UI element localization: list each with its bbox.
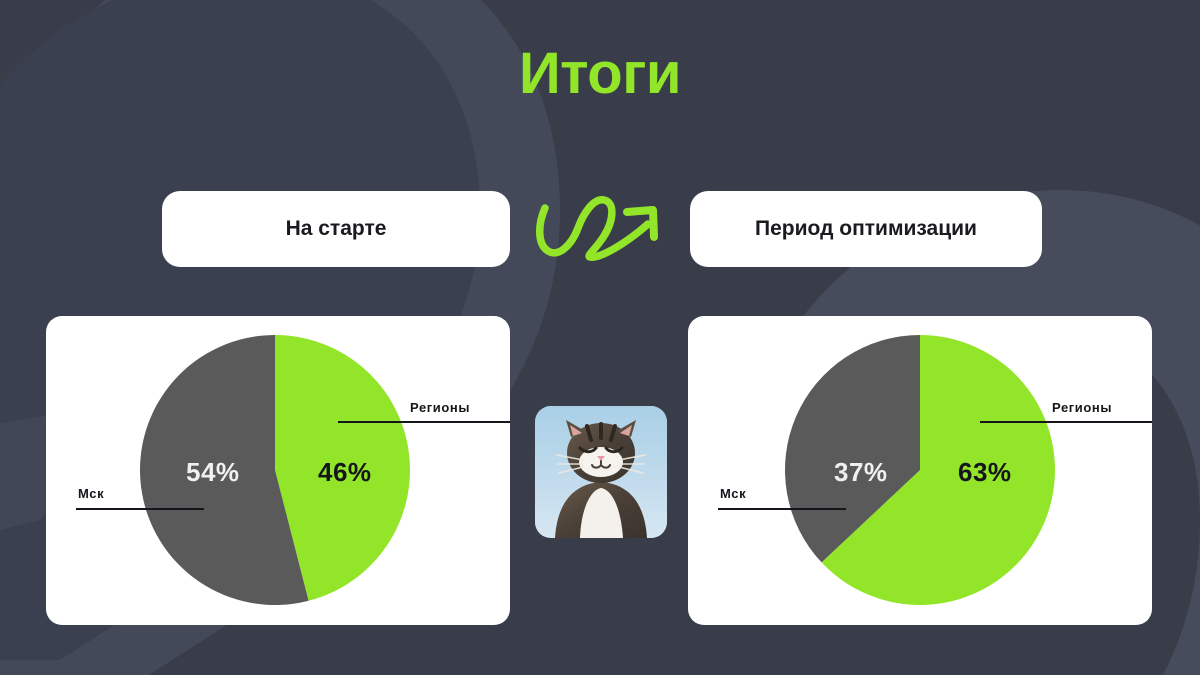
pie-value-msk: 37% <box>834 457 888 488</box>
page-title: Итоги <box>0 40 1200 107</box>
pie-chart-after: Регионы Мск 37% 63% <box>688 316 1152 625</box>
pie-value-regions: 46% <box>318 457 372 488</box>
pie-chart-before: Регионы Мск 54% 46% <box>46 316 510 625</box>
stage-pill-before-label: На старте <box>286 217 387 241</box>
pie-chart-after-svg <box>688 316 1152 625</box>
pie-label-regions: Регионы <box>1052 400 1112 415</box>
cat-photo <box>535 406 667 538</box>
pie-value-regions: 63% <box>958 457 1012 488</box>
chart-card-after: Регионы Мск 37% 63% <box>688 316 1152 625</box>
leader-line-regions <box>980 421 1152 423</box>
pie-label-regions: Регионы <box>410 400 470 415</box>
pie-label-msk: Мск <box>720 486 746 501</box>
curly-arrow-icon <box>528 186 688 272</box>
pie-chart-before-svg <box>46 316 510 625</box>
leader-line-msk <box>76 508 204 510</box>
pie-value-msk: 54% <box>186 457 240 488</box>
leader-line-msk <box>718 508 846 510</box>
stage-pill-after-label: Период оптимизации <box>755 217 977 241</box>
cat-photo-illustration <box>535 406 667 538</box>
pie-label-msk: Мск <box>78 486 104 501</box>
stage-pill-after[interactable]: Период оптимизации <box>690 191 1042 267</box>
chart-card-before: Регионы Мск 54% 46% <box>46 316 510 625</box>
stage-pill-before[interactable]: На старте <box>162 191 510 267</box>
leader-line-regions <box>338 421 510 423</box>
